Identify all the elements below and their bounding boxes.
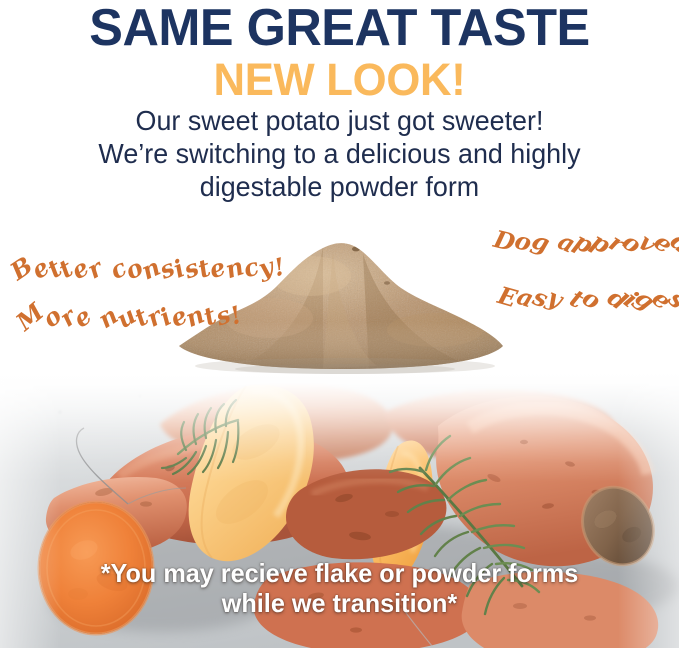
headline-secondary: NEW LOOK! (10, 57, 669, 103)
headline-primary: SAME GREAT TASTE (10, 1, 669, 55)
subheadline-line-1: Our sweet potato just got sweeter! (14, 104, 666, 137)
caption-line-1: *You may recieve flake or powder forms (10, 558, 669, 588)
subheadline-line-2: We’re switching to a delicious and highl… (14, 137, 666, 170)
callout-dog-approved: Dog approved! (492, 226, 679, 255)
caption-line-2: while we transition* (10, 588, 669, 618)
product-banner: SAME GREAT TASTE NEW LOOK! Our sweet pot… (0, 0, 679, 648)
callout-better-consistency: Better consistency! (16, 252, 287, 281)
callout-easy-to-digest: Easy to digest! (496, 282, 679, 311)
callout-more-nutrients: More nutrients! (22, 300, 244, 329)
disclaimer-caption: *You may recieve flake or powder forms w… (0, 558, 679, 618)
headline-block: SAME GREAT TASTE NEW LOOK! (0, 0, 679, 103)
subheadline-block: Our sweet potato just got sweeter! We’re… (0, 104, 679, 203)
subheadline-line-3: digestable powder form (14, 170, 666, 203)
